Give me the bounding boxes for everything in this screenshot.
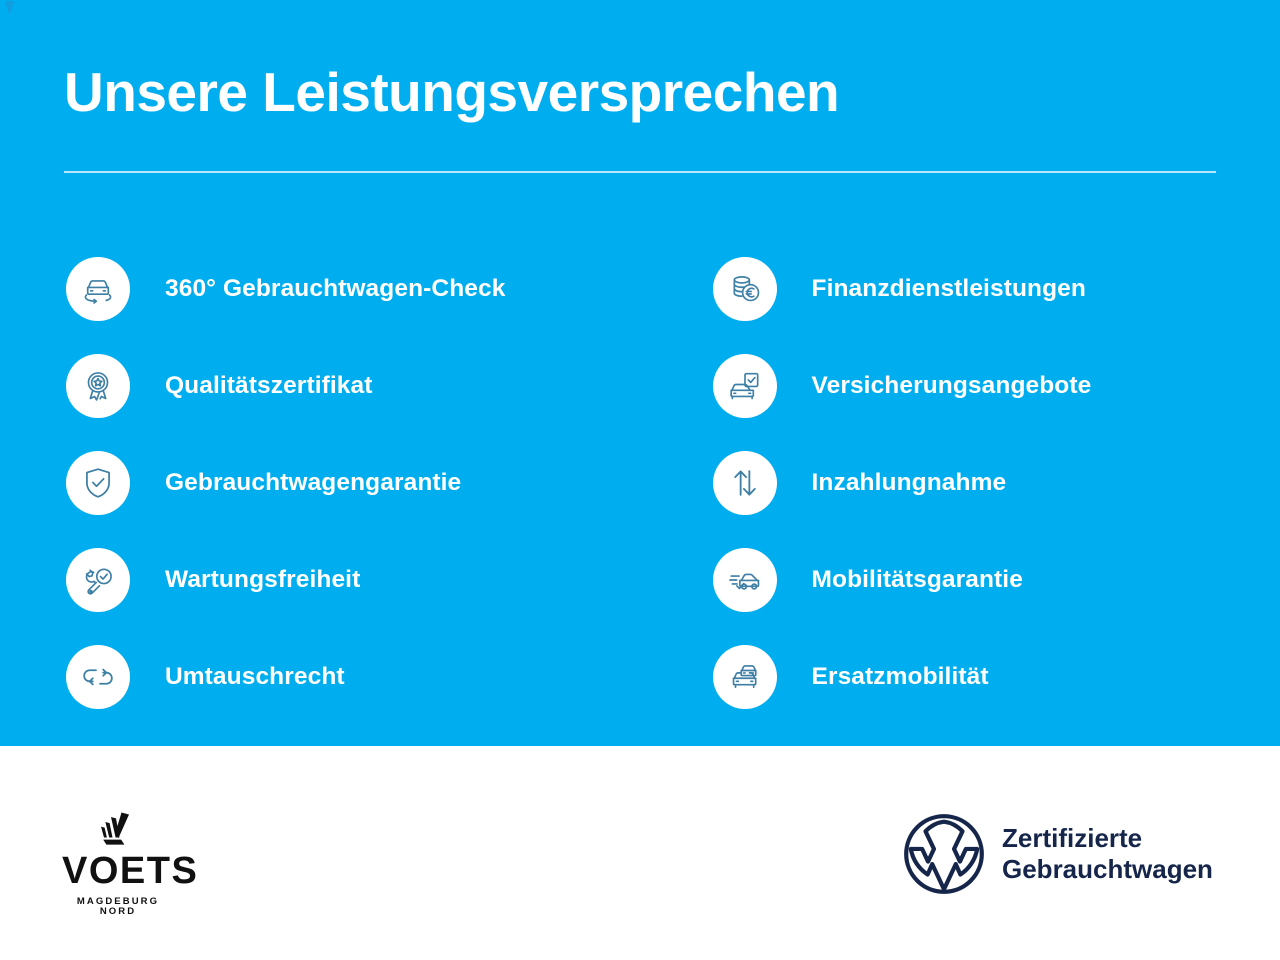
dealer-logo[interactable]: VOETS MAGDEBURG NORD bbox=[62, 808, 174, 916]
feature-label: 360° Gebrauchtwagen-Check bbox=[165, 275, 505, 303]
feature-label: Ersatzmobilität bbox=[812, 663, 989, 691]
award-rosette-icon bbox=[66, 354, 130, 418]
features-right-column: Finanzdienstleistungen bbox=[634, 240, 1280, 725]
promise-panel: Unsere Leistungsversprechen bbox=[0, 0, 1280, 960]
coins-euro-icon bbox=[713, 257, 777, 321]
car-checkbox-icon bbox=[713, 354, 777, 418]
vw-roundel-icon bbox=[902, 812, 986, 896]
feature-item-360-check[interactable]: 360° Gebrauchtwagen-Check bbox=[66, 240, 634, 337]
wrench-check-icon bbox=[66, 548, 130, 612]
brand-logo[interactable]: Zertifizierte Gebrauchtwagen bbox=[902, 812, 1213, 896]
corner-artifact bbox=[5, 1, 14, 13]
title-divider bbox=[64, 171, 1216, 173]
features-grid: 360° Gebrauchtwagen-Check Qualitätszerti… bbox=[0, 240, 1280, 725]
features-left-column: 360° Gebrauchtwagen-Check Qualitätszerti… bbox=[0, 240, 634, 725]
brand-logo-line1: Zertifizierte bbox=[1002, 823, 1142, 853]
feature-label: Gebrauchtwagengarantie bbox=[165, 469, 461, 497]
voets-v-mark-icon bbox=[62, 808, 174, 850]
feature-label: Finanzdienstleistungen bbox=[812, 275, 1086, 303]
up-down-arrows-icon bbox=[713, 451, 777, 515]
feature-item-qualitaetszertifikat[interactable]: Qualitätszertifikat bbox=[66, 337, 634, 434]
feature-item-mobilitaetsgarantie[interactable]: Mobilitätsgarantie bbox=[713, 531, 1280, 628]
two-cars-icon bbox=[713, 645, 777, 709]
feature-item-ersatzmobilitaet[interactable]: Ersatzmobilität bbox=[713, 628, 1280, 725]
feature-label: Mobilitätsgarantie bbox=[812, 566, 1023, 594]
feature-item-gebrauchtwagengarantie[interactable]: Gebrauchtwagengarantie bbox=[66, 434, 634, 531]
page-title: Unsere Leistungsversprechen bbox=[64, 64, 1224, 122]
shield-check-icon bbox=[66, 451, 130, 515]
feature-label: Umtauschrecht bbox=[165, 663, 345, 691]
feature-item-inzahlungnahme[interactable]: Inzahlungnahme bbox=[713, 434, 1280, 531]
car-speed-icon bbox=[713, 548, 777, 612]
brand-logo-text: Zertifizierte Gebrauchtwagen bbox=[1002, 823, 1213, 884]
feature-label: Qualitätszertifikat bbox=[165, 372, 372, 400]
feature-item-versicherungsangebote[interactable]: Versicherungsangebote bbox=[713, 337, 1280, 434]
feature-item-finanzdienstleistungen[interactable]: Finanzdienstleistungen bbox=[713, 240, 1280, 337]
feature-label: Wartungsfreiheit bbox=[165, 566, 360, 594]
brand-logo-line2: Gebrauchtwagen bbox=[1002, 854, 1213, 884]
car-360-check-icon bbox=[66, 257, 130, 321]
feature-item-wartungsfreiheit[interactable]: Wartungsfreiheit bbox=[66, 531, 634, 628]
feature-item-umtauschrecht[interactable]: Umtauschrecht bbox=[66, 628, 634, 725]
hero-section: Unsere Leistungsversprechen bbox=[0, 0, 1280, 746]
dealer-name: VOETS bbox=[62, 852, 174, 890]
feature-label: Versicherungsangebote bbox=[812, 372, 1092, 400]
feature-label: Inzahlungnahme bbox=[812, 469, 1007, 497]
exchange-arrows-icon bbox=[66, 645, 130, 709]
dealer-location: MAGDEBURG NORD bbox=[62, 897, 174, 916]
